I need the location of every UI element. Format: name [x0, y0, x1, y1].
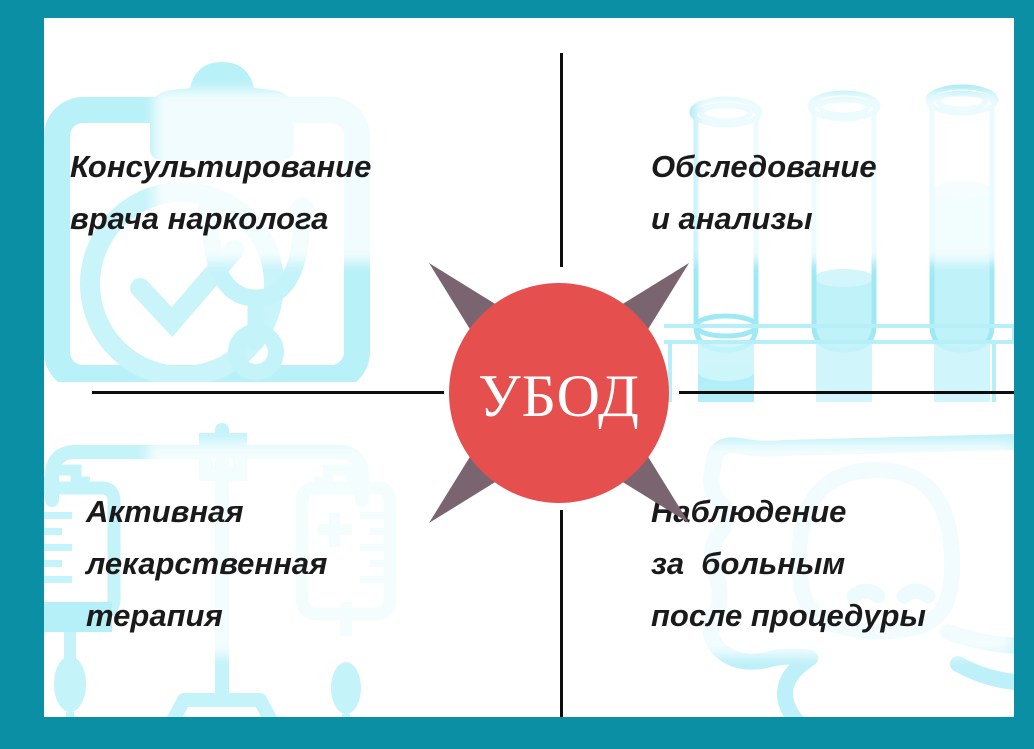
quadrant-label-bottom-left: Активная лекарственная терапия — [86, 486, 327, 642]
divider-horizontal-right — [679, 391, 1014, 394]
divider-vertical-bottom — [560, 510, 563, 717]
frame-top-border — [0, 0, 1034, 18]
badge-label: УБОД — [478, 366, 640, 426]
divider-vertical-top — [560, 53, 563, 267]
infographic-poster: Консультирование врача нарколога Обследо… — [0, 0, 1034, 749]
frame-bottom-border — [0, 731, 1034, 749]
center-badge: УБОД — [423, 257, 695, 529]
frame-right-border — [1014, 0, 1034, 731]
frame-inner-bottom-bar — [44, 717, 1014, 731]
divider-horizontal-left — [92, 391, 444, 394]
badge-circle: УБОД — [449, 283, 669, 503]
quadrant-label-top-left: Консультирование врача нарколога — [70, 141, 371, 245]
quadrant-label-top-right: Обследование и анализы — [651, 141, 877, 245]
poster-canvas: Консультирование врача нарколога Обследо… — [44, 18, 1014, 717]
frame-left-border — [0, 0, 44, 731]
